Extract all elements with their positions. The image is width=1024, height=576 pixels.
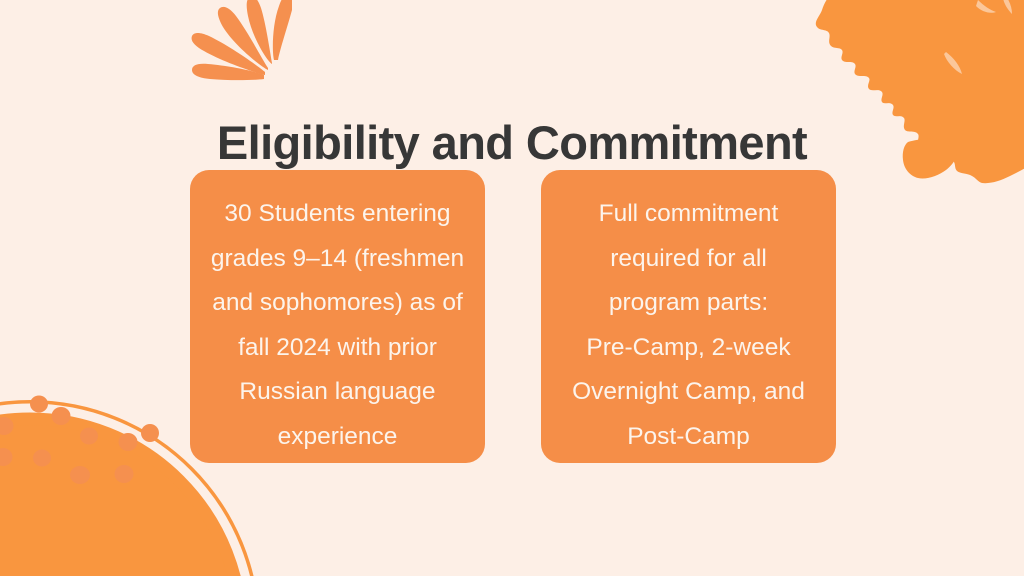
commitment-card-text: Full commitment required for all program… (572, 192, 805, 459)
slide-canvas: Eligibility and Commitment 30 Students e… (0, 0, 1024, 576)
dot-scatter-shape (0, 386, 162, 486)
commitment-card: Full commitment required for all program… (541, 170, 836, 463)
eligibility-card-text: 30 Students entering grades 9–14 (freshm… (211, 192, 464, 459)
starburst-icon (172, 0, 292, 92)
page-title: Eligibility and Commitment (0, 117, 1024, 170)
eligibility-card: 30 Students entering grades 9–14 (freshm… (190, 170, 485, 463)
cards-container: 30 Students entering grades 9–14 (freshm… (190, 170, 836, 463)
